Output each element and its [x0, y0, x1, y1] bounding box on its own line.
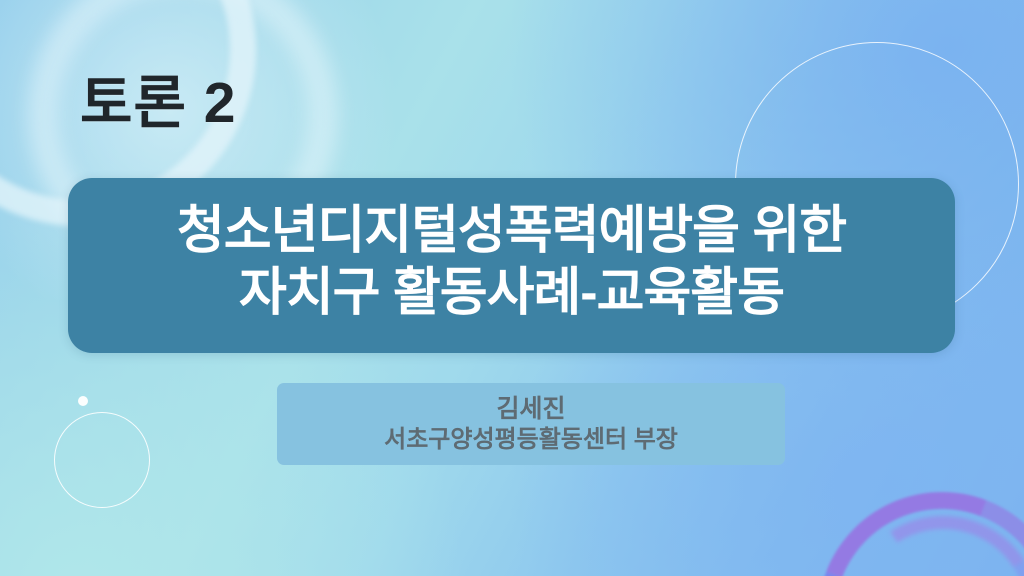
- speaker-affiliation: 서초구양성평등활동센터 부장: [384, 426, 678, 454]
- title-line-1: 청소년디지털성폭력예방을 위한: [177, 201, 846, 262]
- title-line-2: 자치구 활동사례-교육활동: [239, 263, 784, 324]
- title-panel: 청소년디지털성폭력예방을 위한 자치구 활동사례-교육활동: [68, 178, 955, 353]
- speaker-panel: 김세진 서초구양성평등활동센터 부장: [277, 383, 785, 465]
- presentation-slide: 토론 2 청소년디지털성폭력예방을 위한 자치구 활동사례-교육활동 김세진 서…: [0, 0, 1024, 576]
- dot-bottom-left-icon: [78, 396, 88, 406]
- thin-circle-bottom-left-icon: [54, 412, 150, 508]
- violet-ring-bottom-right-icon: [778, 452, 1024, 576]
- speaker-name: 김세진: [496, 395, 565, 424]
- violet-ring-bottom-right-secondary-icon: [828, 498, 1024, 576]
- session-kicker: 토론 2: [80, 74, 236, 134]
